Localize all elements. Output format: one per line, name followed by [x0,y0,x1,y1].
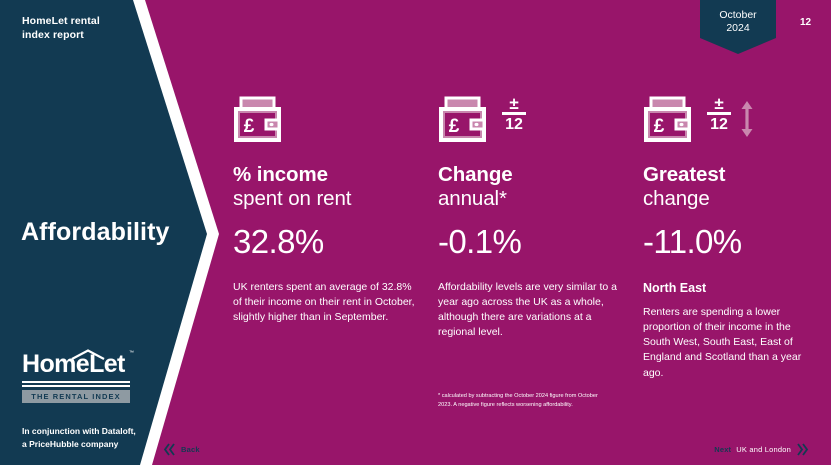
date-badge-label: October 2024 [719,9,756,36]
double-chevron-right-icon [796,442,809,457]
icon-group: £ ± 12 [438,96,618,152]
svg-text:£: £ [449,116,460,137]
next-button[interactable]: Next UK and London [714,442,809,457]
svg-text:£: £ [244,116,255,137]
metric-region-label: North East [643,281,818,296]
back-label: Back [181,445,200,454]
next-label: Next [714,445,731,454]
logo-tagline: THE RENTAL INDEX [22,390,130,403]
metric-description: UK renters spent an average of 32.8% of … [233,280,421,326]
divide-by-twelve-icon: ± 12 [706,97,732,133]
logo-rule-top [22,381,130,383]
homelet-logo: HomeLet ™ THE RENTAL INDEX [22,350,130,403]
wallet-pound-icon: £ [233,96,289,144]
metric-card-annual-change: £ ± 12 Change annual* -0.1% Affordabilit… [438,96,618,341]
metric-heading-light: spent on rent [233,187,421,211]
back-button[interactable]: Back [163,442,200,457]
double-chevron-left-icon [163,442,176,457]
fraction-denominator: 12 [505,116,523,133]
footnote: * calculated by subtracting the October … [438,392,598,409]
fraction-bar [707,112,731,115]
metric-description: Affordability levels are very similar to… [438,280,618,341]
fraction-denominator: 12 [710,116,728,133]
wallet-pound-icon: £ [643,96,699,144]
report-brand-title: HomeLet rental index report [22,14,100,42]
metric-heading-light: change [643,187,818,211]
logo-wordmark: HomeLet ™ [22,350,130,380]
page-title: Affordability [21,218,170,247]
plus-minus-symbol: ± [509,97,518,110]
metric-heading-strong: % income [233,163,421,187]
up-down-arrow-icon [738,98,756,146]
metric-card-greatest-change: £ ± 12 Greatest change -11.0% North East… [643,96,818,381]
metric-value: -0.1% [438,225,618,260]
svg-text:£: £ [654,116,665,137]
divide-by-twelve-icon: ± 12 [501,97,527,133]
fraction-bar [502,112,526,115]
logo-rule-bottom [22,385,130,387]
wallet-pound-icon: £ [438,96,494,144]
metric-heading-strong: Change [438,163,618,187]
partner-credit: In conjunction with Dataloft, a PriceHub… [22,425,142,451]
metric-value: 32.8% [233,225,421,260]
icon-group: £ ± 12 [643,96,818,152]
logo-trademark: ™ [129,350,134,356]
next-target-label: UK and London [736,445,791,454]
house-roof-icon [71,349,105,360]
metric-heading-light: annual* [438,187,618,211]
metric-description: Renters are spending a lower proportion … [643,305,818,381]
slide-canvas: HomeLet rental index report Affordabilit… [0,0,831,465]
metric-heading-strong: Greatest [643,163,818,187]
plus-minus-symbol: ± [714,97,723,110]
date-badge: October 2024 [700,0,776,54]
metric-card-income: £ % income spent on rent 32.8% UK renter… [233,96,421,325]
page-number: 12 [800,17,811,28]
icon-group: £ [233,96,421,152]
metric-value: -11.0% [643,225,818,260]
